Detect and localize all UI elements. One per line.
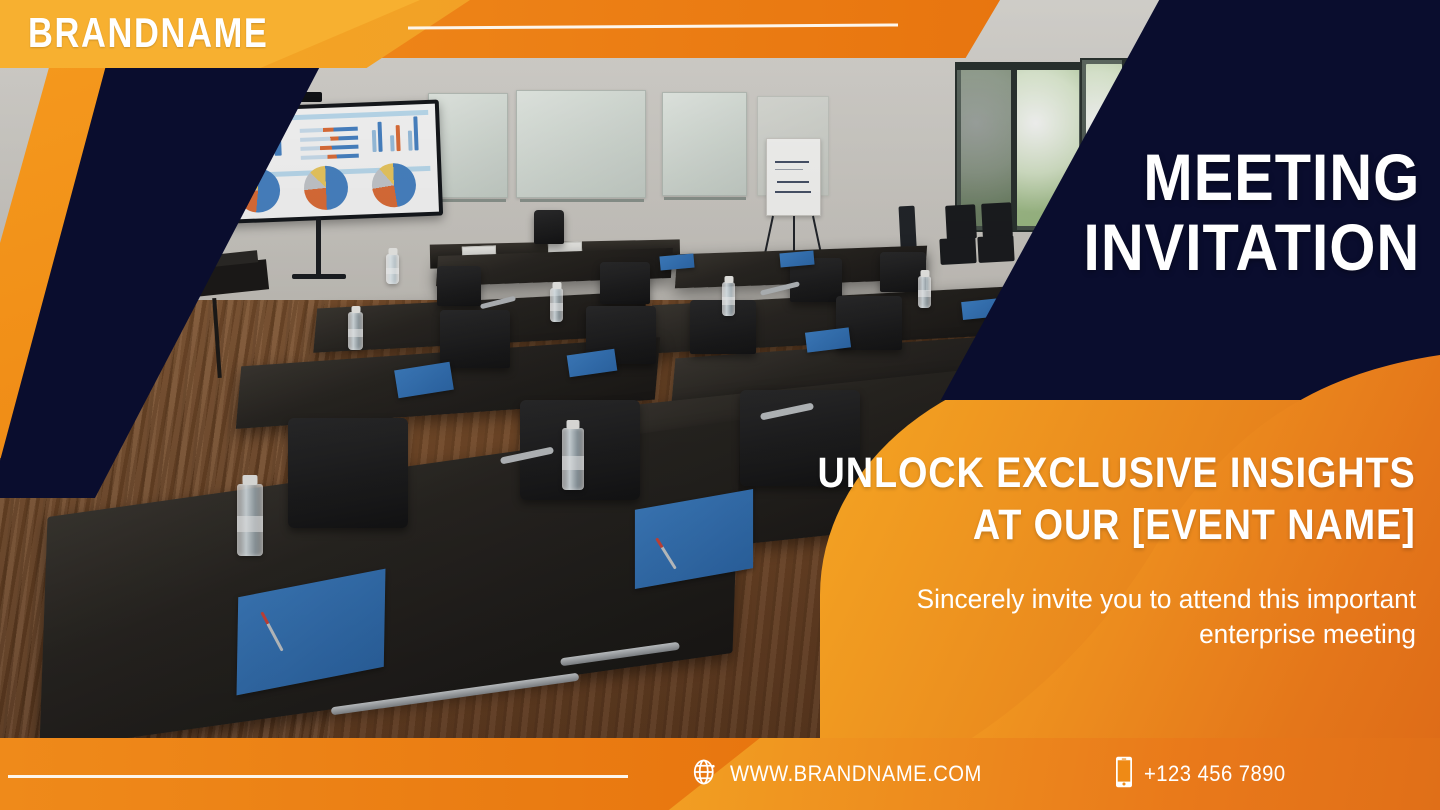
headline: UNLOCK EXCLUSIVE INSIGHTS AT OUR [EVENT …	[818, 447, 1416, 551]
page-title: MEETING INVITATION	[1083, 142, 1420, 282]
bottom-bar-dark	[0, 738, 760, 810]
footer-phone[interactable]: +123 456 7890	[1114, 756, 1298, 793]
bottom-divider-line	[8, 775, 628, 778]
brand-name: BRANDNAME	[28, 11, 269, 55]
meeting-invitation-poster: BRANDNAME MEETING INVITATION UNLOCK EXCL…	[0, 0, 1440, 810]
headline-line-1: UNLOCK EXCLUSIVE INSIGHTS	[818, 449, 1416, 497]
footer-website[interactable]: WWW.BRANDNAME.COM	[690, 757, 1004, 792]
title-line-1: MEETING	[1083, 142, 1420, 212]
footer-contact-bar: WWW.BRANDNAME.COM +123 456 7890	[690, 738, 1440, 810]
mobile-phone-icon	[1114, 756, 1134, 793]
headline-line-2: AT OUR [EVENT NAME]	[818, 499, 1416, 551]
phone-text: +123 456 7890	[1144, 761, 1286, 787]
globe-icon	[690, 757, 720, 792]
subtitle: Sincerely invite you to attend this impo…	[795, 582, 1416, 652]
website-text: WWW.BRANDNAME.COM	[730, 761, 982, 787]
title-line-2: INVITATION	[1083, 212, 1420, 282]
